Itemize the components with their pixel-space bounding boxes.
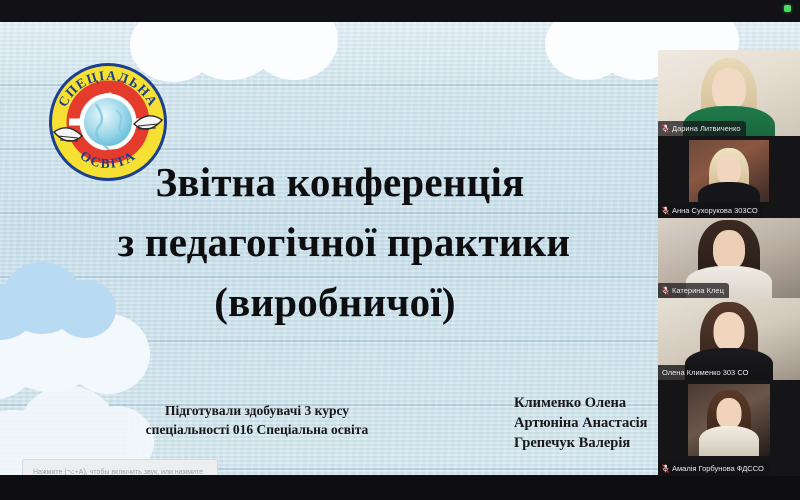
participant-nameplate: Олена Клименко 303 СО bbox=[658, 365, 753, 380]
credits-left-line-1: Підготували здобувачі 3 курсу bbox=[122, 401, 392, 420]
microphone-muted-icon bbox=[662, 464, 669, 473]
microphone-muted-icon bbox=[662, 124, 669, 133]
participant-nameplate: Амалія Горбунова ФДССО bbox=[658, 461, 769, 476]
participant-tile[interactable]: Анна Сухорукова 303СО bbox=[658, 136, 800, 218]
participant-tile[interactable]: Катерина Клец bbox=[658, 218, 800, 298]
microphone-muted-icon bbox=[662, 286, 669, 295]
window-top-bar bbox=[0, 0, 800, 22]
participant-name: Анна Сухорукова 303СО bbox=[672, 206, 758, 215]
recording-indicator-dot bbox=[784, 5, 791, 12]
participant-nameplate: Анна Сухорукова 303СО bbox=[658, 203, 763, 218]
participant-nameplate: Дарина Литвиченко bbox=[658, 121, 746, 136]
slide-title-line-2: з педагогічної практики bbox=[0, 212, 660, 272]
participant-name: Дарина Литвиченко bbox=[672, 124, 741, 133]
participant-tile[interactable]: Амалія Горбунова ФДССО bbox=[658, 380, 800, 476]
slide-title: Звітна конференція з педагогічної практи… bbox=[0, 152, 660, 332]
microphone-muted-icon bbox=[662, 206, 669, 215]
participant-tile-active-speaker[interactable]: Олена Клименко 303 СО bbox=[658, 298, 800, 380]
participant-filmstrip: Дарина Литвиченко Анна Сух bbox=[658, 50, 800, 494]
zoom-meeting-window: СПЕЦІАЛЬНА ОСВІТА Звітна конференція з п… bbox=[0, 0, 800, 500]
slide-title-line-1: Звітна конференція bbox=[0, 152, 660, 212]
participant-tile[interactable]: Дарина Литвиченко bbox=[658, 50, 800, 136]
credits-left-line-2: спеціальності 016 Спеціальна освіта bbox=[122, 420, 392, 439]
participant-name: Амалія Горбунова ФДССО bbox=[672, 464, 764, 473]
slide-title-line-3: (виробничої) bbox=[0, 272, 660, 332]
participant-name: Катерина Клец bbox=[672, 286, 724, 295]
slide-credits-left: Підготували здобувачі 3 курсу спеціально… bbox=[122, 401, 392, 439]
unmute-audio-tooltip: Нажмите (⌥+A), чтобы включить звук, или … bbox=[22, 459, 218, 475]
participant-name: Олена Клименко 303 СО bbox=[662, 368, 748, 377]
participant-nameplate: Катерина Клец bbox=[658, 283, 729, 298]
